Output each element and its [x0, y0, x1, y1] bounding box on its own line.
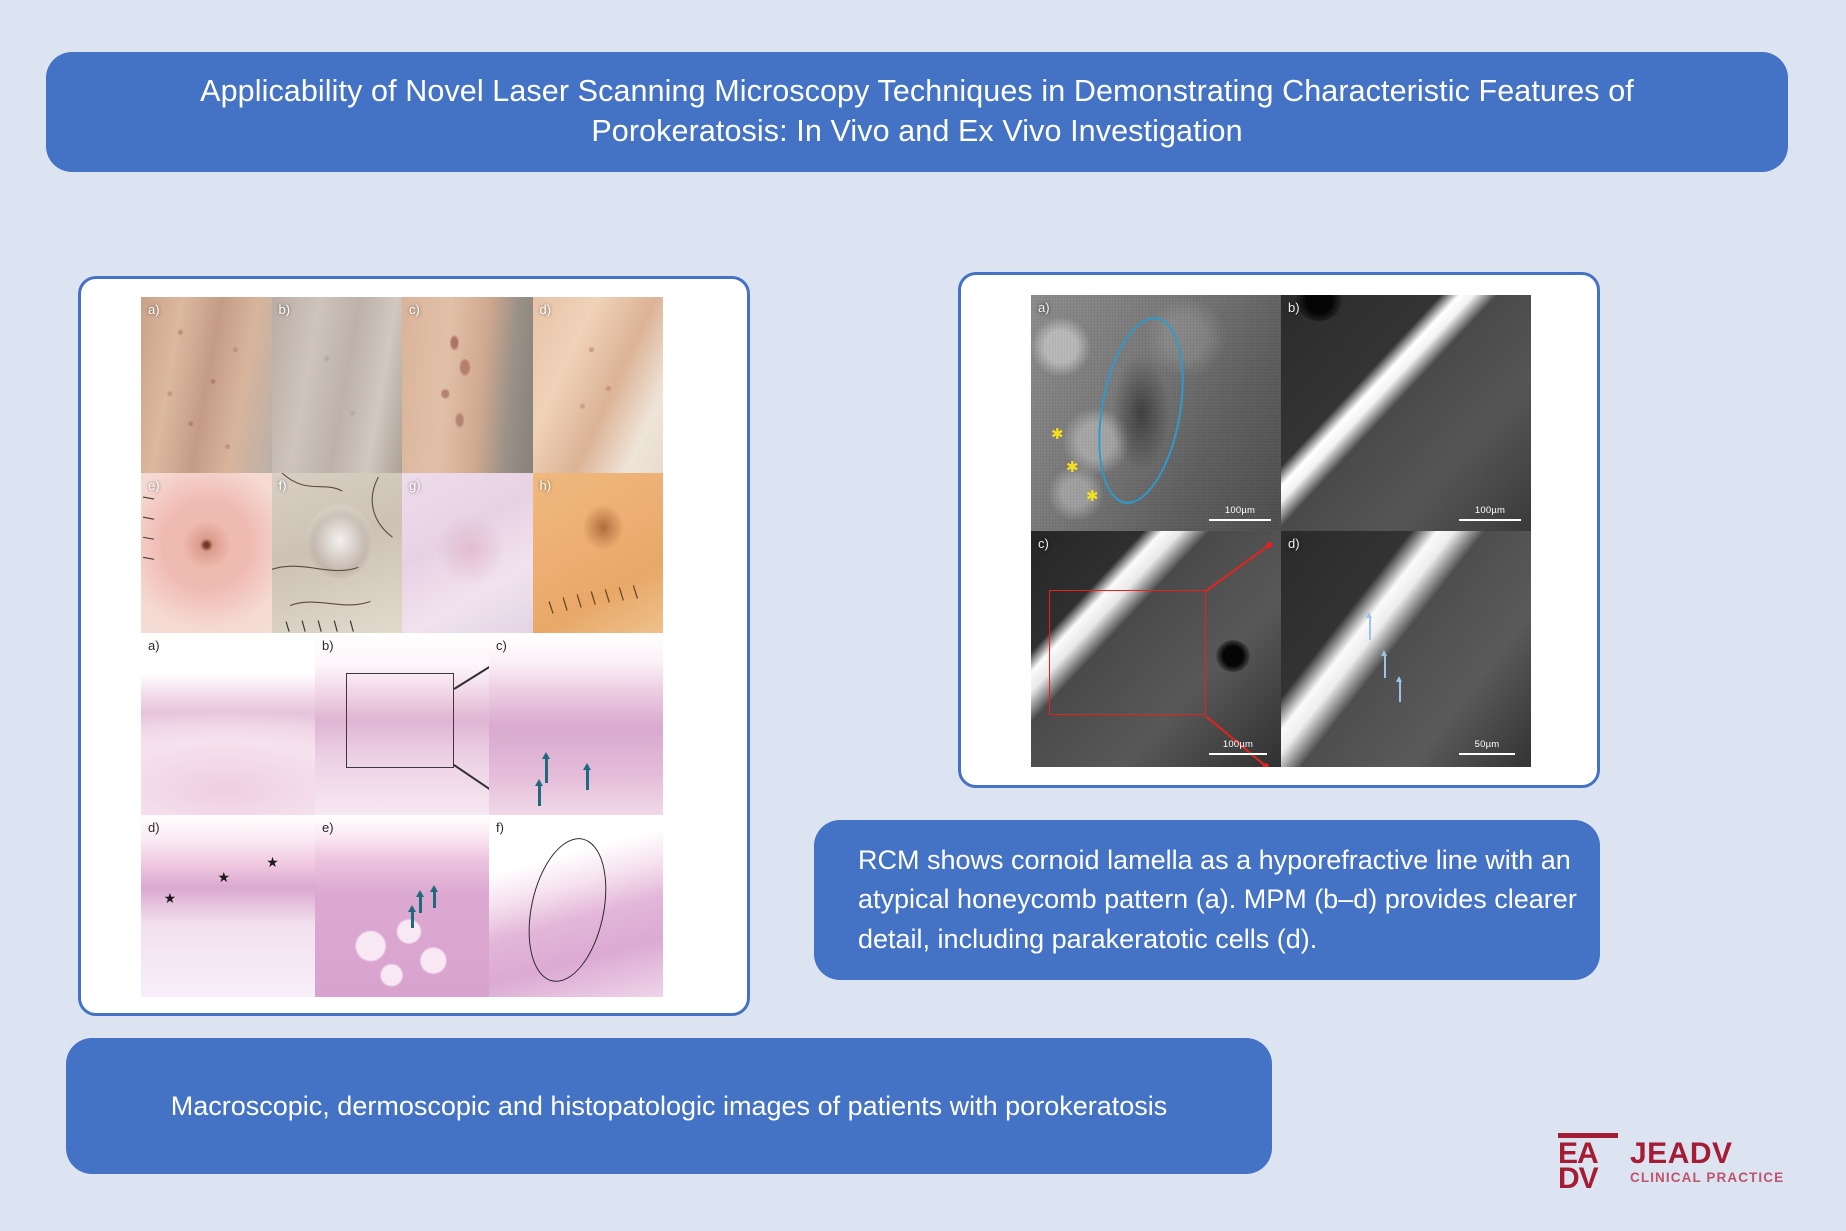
parakeratosis-arrow: [419, 895, 422, 913]
dermoscopy-panel-e: e): [141, 473, 272, 633]
jeadv-logo: EA DV JEADV CLINICAL PRACTICE: [1558, 1133, 1784, 1191]
asterisk-marker: ★: [218, 870, 231, 884]
panel-label: f): [279, 478, 287, 493]
scale-bar: 50µm: [1459, 739, 1515, 755]
histology-image-d: [141, 815, 315, 997]
scale-bar: 100µm: [1459, 505, 1521, 521]
clinical-panel-d: d): [533, 297, 664, 473]
panel-label: a): [148, 638, 160, 653]
panel-label: f): [496, 820, 504, 835]
scale-bar-label: 100µm: [1225, 505, 1255, 516]
dermoscopy-image-e: [141, 473, 272, 633]
asterisk-marker: ★: [266, 855, 279, 869]
histology-panel-b: b): [315, 633, 489, 815]
asterisk-marker: ★: [164, 891, 177, 905]
panel-label: a): [1038, 300, 1050, 315]
panel-label: d): [148, 820, 160, 835]
parakeratotic-cell-arrow: [1369, 616, 1371, 640]
right-figure-caption: RCM shows cornoid lamella as a hyporefra…: [814, 820, 1600, 980]
left-figure-caption: Macroscopic, dermoscopic and histopatolo…: [66, 1038, 1272, 1174]
logo-subtitle: CLINICAL PRACTICE: [1630, 1171, 1784, 1185]
caption-text: Macroscopic, dermoscopic and histopatolo…: [171, 1087, 1168, 1125]
clinical-image-c: [402, 297, 533, 473]
panel-label: b): [322, 638, 334, 653]
dermoscopy-panel-h: h): [533, 473, 664, 633]
dark-artifact: [1216, 640, 1250, 672]
scale-bar-label: 50µm: [1475, 739, 1500, 750]
clinical-image-b: [272, 297, 403, 473]
histology-row-1: a) b) c): [141, 633, 663, 815]
microscopy-row-1: ✱ ✱ ✱ 100µm a) 100µm b): [1031, 295, 1531, 531]
panel-label: a): [148, 302, 160, 317]
left-figure-grid: a) b) c) d): [141, 297, 663, 1003]
left-figure-card: a) b) c) d): [78, 276, 750, 1016]
dermoscopy-row: e): [141, 473, 663, 633]
parakeratotic-cell-arrow: [1399, 680, 1401, 702]
inset-selection-box: [1049, 590, 1207, 715]
microscopy-row-2: 100µm c) 50µm d): [1031, 531, 1531, 767]
cornoid-lamella-arrow: [538, 784, 541, 806]
panel-label: e): [322, 820, 334, 835]
graphical-abstract-poster: Applicability of Novel Laser Scanning Mi…: [0, 0, 1846, 1231]
logo-mark-bottom: DV: [1558, 1166, 1598, 1191]
clinical-panel-c: c): [402, 297, 533, 473]
eadv-monogram-icon: EA DV: [1558, 1133, 1618, 1191]
histology-image-a: [141, 633, 315, 815]
histology-panel-a: a): [141, 633, 315, 815]
dermoscopy-image-g: [402, 473, 533, 633]
rcm-panel-a: ✱ ✱ ✱ 100µm a): [1031, 295, 1281, 531]
logo-wordmark: JEADV CLINICAL PRACTICE: [1630, 1139, 1784, 1185]
histology-row-2: ★ ★ ★ d) e) f): [141, 815, 663, 997]
mpm-image-d: [1281, 531, 1531, 767]
scale-bar-label: 100µm: [1223, 739, 1253, 750]
scale-bar-line: [1209, 753, 1267, 755]
dermoscopy-image-f: [272, 473, 403, 633]
mpm-image-b: [1281, 295, 1531, 531]
parakeratosis-arrow: [433, 890, 436, 908]
mpm-panel-b: 100µm b): [1281, 295, 1531, 531]
logo-name: JEADV: [1630, 1139, 1784, 1169]
cornoid-lamella-arrow: [586, 768, 589, 790]
panel-label: c): [1038, 536, 1049, 551]
histology-image-c: [489, 633, 663, 815]
parakeratotic-cell-arrow: [1384, 654, 1386, 678]
scale-bar-label: 100µm: [1475, 505, 1505, 516]
page-title: Applicability of Novel Laser Scanning Mi…: [98, 72, 1736, 151]
histology-panel-d: ★ ★ ★ d): [141, 815, 315, 997]
panel-label: e): [148, 478, 160, 493]
right-figure-card: ✱ ✱ ✱ 100µm a) 100µm b): [958, 272, 1600, 788]
dermoscopy-image-h: [533, 473, 664, 633]
histology-panel-e: e): [315, 815, 489, 997]
asterisk-marker: ✱: [1051, 427, 1064, 442]
inset-selection-box: [346, 673, 454, 768]
histology-image-e: [315, 815, 489, 997]
scale-bar-line: [1459, 753, 1515, 755]
panel-label: c): [409, 302, 420, 317]
asterisk-marker: ✱: [1066, 460, 1079, 475]
scale-bar-line: [1459, 519, 1521, 521]
asterisk-marker: ✱: [1086, 489, 1099, 504]
panel-label: g): [409, 478, 421, 493]
mpm-panel-d: 50µm d): [1281, 531, 1531, 767]
clinical-image-d: [533, 297, 664, 473]
caption-text: RCM shows cornoid lamella as a hyporefra…: [858, 841, 1600, 959]
cornoid-lamella-arrow: [545, 757, 548, 783]
histology-panel-c: c): [489, 633, 663, 815]
dermoscopy-panel-f: f): [272, 473, 403, 633]
clinical-image-a: [141, 297, 272, 473]
panel-label: d): [540, 302, 552, 317]
microscopy-grid: ✱ ✱ ✱ 100µm a) 100µm b): [1031, 295, 1531, 767]
clinical-photo-row: a) b) c) d): [141, 297, 663, 473]
title-banner: Applicability of Novel Laser Scanning Mi…: [46, 52, 1788, 172]
parakeratosis-arrow: [411, 910, 414, 928]
panel-label: c): [496, 638, 507, 653]
dermoscopy-panel-g: g): [402, 473, 533, 633]
histology-panel-f: f): [489, 815, 663, 997]
clinical-panel-a: a): [141, 297, 272, 473]
panel-label: h): [540, 478, 552, 493]
panel-label: b): [279, 302, 291, 317]
mpm-panel-c: 100µm c): [1031, 531, 1281, 767]
scale-bar: 100µm: [1209, 505, 1271, 521]
scale-bar: 100µm: [1209, 739, 1267, 755]
panel-label: d): [1288, 536, 1300, 551]
scale-bar-line: [1209, 519, 1271, 521]
clinical-panel-b: b): [272, 297, 403, 473]
panel-label: b): [1288, 300, 1300, 315]
